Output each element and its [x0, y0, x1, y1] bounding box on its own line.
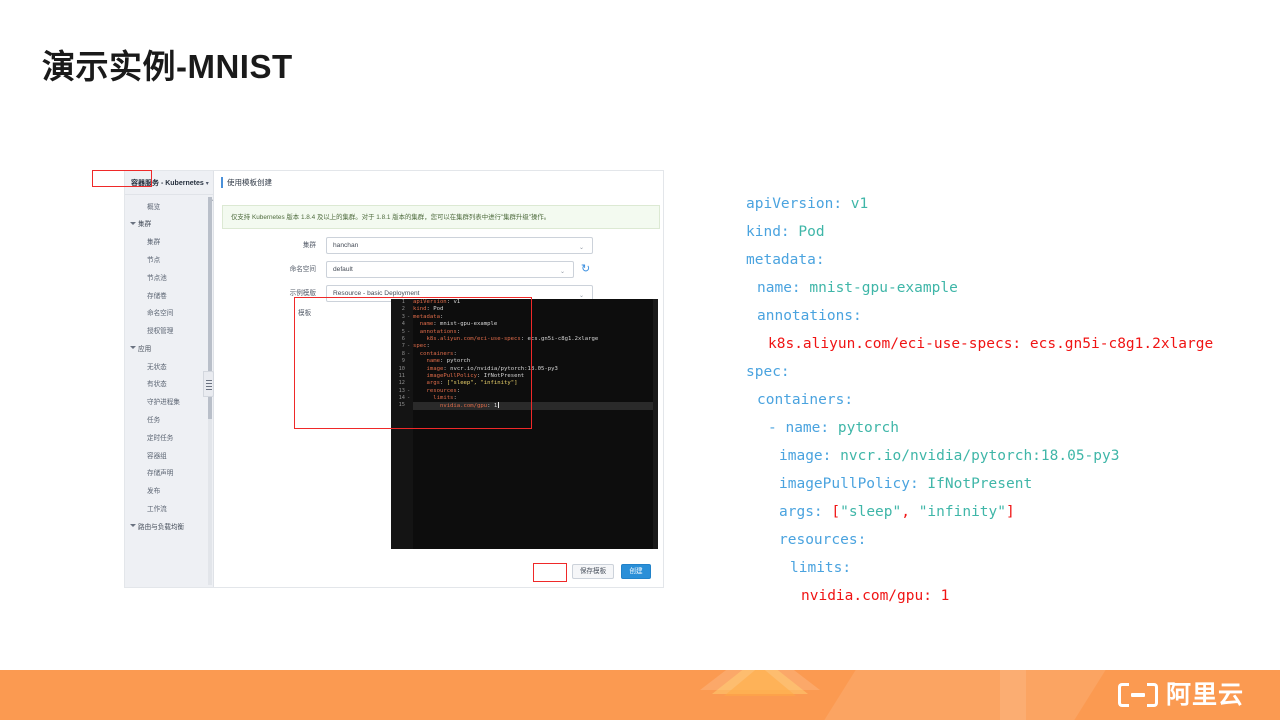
editor-line-text: image: nvcr.io/nvidia/pytorch:18.05-py3 [413, 366, 558, 372]
editor-line-number: 3 [391, 314, 405, 321]
editor-line: 12 args: ["sleep", "infinity"] [413, 380, 658, 387]
editor-line: 2kind: Pod [413, 306, 658, 313]
handle-line-icon [206, 389, 212, 390]
editor-line-text: spec: [413, 343, 430, 349]
fold-toggle-icon[interactable]: - [407, 351, 410, 358]
yaml-value: v1 [851, 196, 868, 212]
sidebar-item-label: 集群 [147, 239, 160, 246]
sidebar-item-label: 守护进程集 [147, 399, 180, 406]
sample-template-label: 示例模版 [290, 285, 316, 303]
yaml-separator: : [853, 308, 862, 324]
sidebar-item-4[interactable]: 节点池 [125, 270, 213, 288]
yaml-string: "sleep" [840, 504, 901, 520]
editor-line-text: kind: Pod [413, 306, 443, 312]
sidebar-item-2[interactable]: 集群 [125, 235, 213, 253]
sidebar-item-label: 命名空间 [147, 310, 173, 317]
chevron-down-icon [130, 524, 136, 527]
sidebar-item-label: 定时任务 [147, 435, 173, 442]
editor-line: 11 imagePullPolicy: IfNotPresent [413, 373, 658, 380]
fold-toggle-icon[interactable]: - [407, 314, 410, 321]
yaml-line: name: mnist-gpu-example [746, 274, 1266, 302]
yaml-punct: ] [1006, 504, 1015, 520]
yaml-value: Pod [798, 224, 824, 240]
editor-line: 15 nvidia.com/gpu: 1 [413, 402, 658, 409]
yaml-separator: : [781, 364, 790, 380]
sidebar-item-label: 有状态 [147, 381, 167, 388]
editor-line-number: 15 [391, 402, 405, 409]
cluster-select-value: hanchan [333, 242, 358, 249]
sidebar-item-6[interactable]: 命名空间 [125, 306, 213, 324]
alibaba-cloud-mark-icon [1118, 683, 1158, 707]
yaml-key: apiVersion [746, 196, 833, 212]
yaml-value: pytorch [838, 420, 899, 436]
banner-stripe [1000, 670, 1026, 720]
editor-line: 14- limits: [413, 395, 658, 402]
chevron-down-icon: ⌄ [576, 238, 587, 259]
cluster-label: 集群 [303, 237, 316, 255]
yaml-key: name [785, 420, 820, 436]
sidebar-item-label: 节点池 [147, 275, 167, 282]
sidebar-item-label: 发布 [147, 488, 160, 495]
editor-line: 13- resources: [413, 388, 658, 395]
cluster-select[interactable]: hanchan ⌄ [326, 237, 593, 254]
yaml-key: imagePullPolicy [779, 476, 910, 492]
sidebar-item-1[interactable]: 集群 [125, 217, 213, 235]
yaml-line: - name: pytorch [746, 414, 1266, 442]
sidebar-item-label: 授权管理 [147, 328, 173, 335]
editor-code-area[interactable]: 1apiVersion: v12kind: Pod3-metadata:4 na… [413, 299, 658, 410]
sidebar-item-label: 集群 [138, 221, 151, 228]
editor-line-text: name: mnist-gpu-example [413, 321, 497, 327]
yaml-separator: : [842, 560, 851, 576]
editor-line-text: k8s.aliyun.com/eci-use-specs: ecs.gn5i-c… [413, 336, 598, 342]
yaml-line: nvidia.com/gpu: 1 [746, 582, 1266, 610]
editor-line-number: 1 [391, 299, 405, 306]
sidebar-item-8[interactable]: 应用 [125, 341, 213, 359]
sidebar-item-18[interactable]: 路由与负载均衡 [125, 519, 213, 537]
brand-logo: 阿里云 [1118, 679, 1244, 711]
console-content: 使用模板创建 仅支持 Kubernetes 版本 1.8.4 及以上的集群。对于… [214, 171, 663, 587]
yaml-value: IfNotPresent [927, 476, 1032, 492]
brand-name: 阿里云 [1166, 679, 1244, 711]
yaml-separator: : [816, 252, 825, 268]
editor-line: 9 name: pytorch [413, 358, 658, 365]
handle-line-icon [206, 380, 212, 381]
yaml-line: k8s.aliyun.com/eci-use-specs: ecs.gn5i-c… [746, 330, 1266, 358]
editor-line-number: 5 [391, 329, 405, 336]
yaml-line: annotations: [746, 302, 1266, 330]
editor-line-text: args: ["sleep", "infinity"] [413, 380, 517, 386]
editor-line-text: name: pytorch [413, 358, 470, 364]
yaml-line: apiVersion: v1 [746, 190, 1266, 218]
sidebar-item-label: 无状态 [147, 364, 167, 371]
chevron-down-icon [130, 222, 136, 225]
sample-template-value: Resource - basic Deployment [333, 290, 420, 297]
editor-line-number: 11 [391, 373, 405, 380]
yaml-key: metadata [746, 252, 816, 268]
yaml-separator: : [833, 196, 850, 212]
yaml-line: metadata: [746, 246, 1266, 274]
yaml-annotation-text: k8s.aliyun.com/eci-use-specs: ecs.gn5i-c… [768, 336, 1213, 352]
editor-line: 10 image: nvcr.io/nvidia/pytorch:18.05-p… [413, 366, 658, 373]
editor-line: 6 k8s.aliyun.com/eci-use-specs: ecs.gn5i… [413, 336, 658, 343]
editor-line-text: imagePullPolicy: IfNotPresent [413, 373, 524, 379]
yaml-key: resources [779, 532, 858, 548]
create-button[interactable]: 创建 [621, 564, 651, 579]
template-editor-label: 模板 [298, 305, 311, 323]
yaml-line: spec: [746, 358, 1266, 386]
yaml-punct: , [901, 504, 918, 520]
sidebar-item-13[interactable]: 定时任务 [125, 430, 213, 448]
yaml-line: args: ["sleep", "infinity"] [746, 498, 1266, 526]
form-row-namespace: 命名空间 default ⌄ ↻ [214, 261, 614, 279]
editor-line-text: containers: [413, 351, 457, 357]
yaml-value: mnist-gpu-example [809, 280, 957, 296]
sidebar-item-label: 路由与负载均衡 [138, 524, 184, 531]
sidebar-item-label: 容器组 [147, 453, 167, 460]
sidebar-item-14[interactable]: 容器组 [125, 448, 213, 466]
editor-line-text: annotations: [413, 329, 460, 335]
yaml-line: image: nvcr.io/nvidia/pytorch:18.05-py3 [746, 442, 1266, 470]
chevron-down-icon [130, 346, 136, 349]
editor-line: 3-metadata: [413, 314, 658, 321]
editor-line-number: 10 [391, 366, 405, 373]
sidebar-item-3[interactable]: 节点 [125, 252, 213, 270]
save-template-button[interactable]: 保存模板 [572, 564, 614, 579]
fold-toggle-icon[interactable]: - [407, 329, 410, 336]
yaml-line: kind: Pod [746, 218, 1266, 246]
yaml-separator: : [858, 532, 867, 548]
yaml-key: image [779, 448, 823, 464]
yaml-listing: apiVersion: v1kind: Podmetadata:name: mn… [746, 190, 1266, 610]
sidebar-item-label: 节点 [147, 257, 160, 264]
editor-line-number: 14 [391, 395, 405, 402]
yaml-value: nvcr.io/nvidia/pytorch:18.05-py3 [840, 448, 1119, 464]
yaml-separator: : [792, 280, 809, 296]
form-row-cluster: 集群 hanchan ⌄ [214, 237, 614, 255]
banner-stripe [818, 670, 1112, 720]
editor-line-number: 4 [391, 321, 405, 328]
breadcrumb: 使用模板创建 [221, 177, 272, 188]
sidebar-item-7[interactable]: 授权管理 [125, 323, 213, 341]
yaml-separator: : [820, 420, 837, 436]
yaml-dash: - [768, 420, 785, 436]
editor-line: 7-spec: [413, 343, 658, 350]
editor-line-number: 9 [391, 358, 405, 365]
fold-toggle-icon[interactable]: - [407, 388, 410, 395]
sidebar-collapse-handle[interactable] [203, 371, 214, 397]
yaml-punct: [ [831, 504, 840, 520]
sidebar-item-label: 应用 [138, 346, 151, 353]
refresh-icon[interactable]: ↻ [581, 261, 590, 278]
sidebar-item-0[interactable]: 概览 [125, 199, 213, 217]
editor-line: 1apiVersion: v1 [413, 299, 658, 306]
editor-line-number: 8 [391, 351, 405, 358]
yaml-key: name [757, 280, 792, 296]
sidebar-item-17[interactable]: 工作流 [125, 501, 213, 519]
editor-scrollbar[interactable] [653, 299, 658, 549]
sidebar-item-16[interactable]: 发布 [125, 484, 213, 502]
sidebar-item-9[interactable]: 无状态 [125, 359, 213, 377]
yaml-key: kind [746, 224, 781, 240]
editor-line-number: 6 [391, 336, 405, 343]
footer-banner: 阿里云 [0, 670, 1280, 720]
sidebar-header-label: 容器服务 - Kubernetes [131, 180, 204, 187]
template-code-editor[interactable]: 1apiVersion: v12kind: Pod3-metadata:4 na… [391, 299, 658, 549]
yaml-line: resources: [746, 526, 1266, 554]
yaml-key: annotations [757, 308, 853, 324]
sidebar-item-label: 存储声明 [147, 470, 173, 477]
yaml-line: limits: [746, 554, 1266, 582]
dash-icon [1131, 693, 1145, 697]
fold-toggle-icon[interactable]: - [407, 343, 410, 350]
chevron-decor-icon [724, 670, 796, 696]
editor-line: 4 name: mnist-gpu-example [413, 321, 658, 328]
yaml-key: containers [757, 392, 844, 408]
editor-line-text: resources: [413, 388, 460, 394]
editor-line-number: 2 [391, 306, 405, 313]
bracket-left-icon [1118, 683, 1129, 707]
sidebar-item-label: 任务 [147, 417, 160, 424]
page-title: 演示实例-MNIST [42, 40, 293, 88]
yaml-separator: : [823, 448, 840, 464]
editor-line-text: nvidia.com/gpu: 1 [413, 403, 497, 409]
yaml-separator: : [910, 476, 927, 492]
sidebar-item-10[interactable]: 有状态 [125, 377, 213, 395]
yaml-line: imagePullPolicy: IfNotPresent [746, 470, 1266, 498]
slide-root: 演示实例-MNIST 容器服务 - Kubernetes ▾ 概览集群集群节点节… [0, 0, 1280, 720]
handle-line-icon [206, 383, 212, 384]
editor-line: 8- containers: [413, 351, 658, 358]
editor-line: 5- annotations: [413, 329, 658, 336]
editor-line-text: apiVersion: v1 [413, 299, 460, 305]
handle-line-icon [206, 386, 212, 387]
chevron-down-icon: ▾ [206, 181, 209, 187]
sidebar-item-label: 存储卷 [147, 293, 167, 300]
editor-line-text: metadata: [413, 314, 443, 320]
yaml-annotation-text: nvidia.com/gpu: 1 [801, 588, 949, 604]
text-caret [498, 402, 499, 408]
sidebar-item-12[interactable]: 任务 [125, 412, 213, 430]
editor-line-number: 12 [391, 380, 405, 387]
yaml-key: args [779, 504, 814, 520]
namespace-label: 命名空间 [290, 261, 316, 279]
sidebar-menu: 概览集群集群节点节点池存储卷命名空间授权管理应用无状态有状态守护进程集任务定时任… [125, 195, 213, 537]
yaml-separator: : [814, 504, 831, 520]
sidebar-item-5[interactable]: 存储卷 [125, 288, 213, 306]
yaml-key: spec [746, 364, 781, 380]
sidebar-item-11[interactable]: 守护进程集 [125, 395, 213, 413]
yaml-separator: : [781, 224, 798, 240]
sidebar-header[interactable]: 容器服务 - Kubernetes ▾ [125, 171, 213, 195]
sidebar-item-label: 概览 [147, 204, 160, 211]
namespace-select-value: default [333, 266, 353, 273]
yaml-string: "infinity" [919, 504, 1006, 520]
bracket-right-icon [1147, 683, 1158, 707]
yaml-separator: : [844, 392, 853, 408]
fold-toggle-icon[interactable]: - [407, 395, 410, 402]
yaml-key: limits [790, 560, 842, 576]
version-notice: 仅支持 Kubernetes 版本 1.8.4 及以上的集群。对于 1.8.1 … [222, 205, 660, 229]
sidebar-item-15[interactable]: 存储声明 [125, 466, 213, 484]
editor-line-text: limits: [413, 395, 457, 401]
editor-line-number: 13 [391, 388, 405, 395]
namespace-select[interactable]: default ⌄ [326, 261, 574, 278]
console-screenshot: 容器服务 - Kubernetes ▾ 概览集群集群节点节点池存储卷命名空间授权… [124, 170, 664, 588]
sidebar: 容器服务 - Kubernetes ▾ 概览集群集群节点节点池存储卷命名空间授权… [125, 171, 214, 587]
editor-line-number: 7 [391, 343, 405, 350]
sidebar-item-label: 工作流 [147, 506, 167, 513]
yaml-line: containers: [746, 386, 1266, 414]
chevron-down-icon: ⌄ [557, 262, 568, 283]
